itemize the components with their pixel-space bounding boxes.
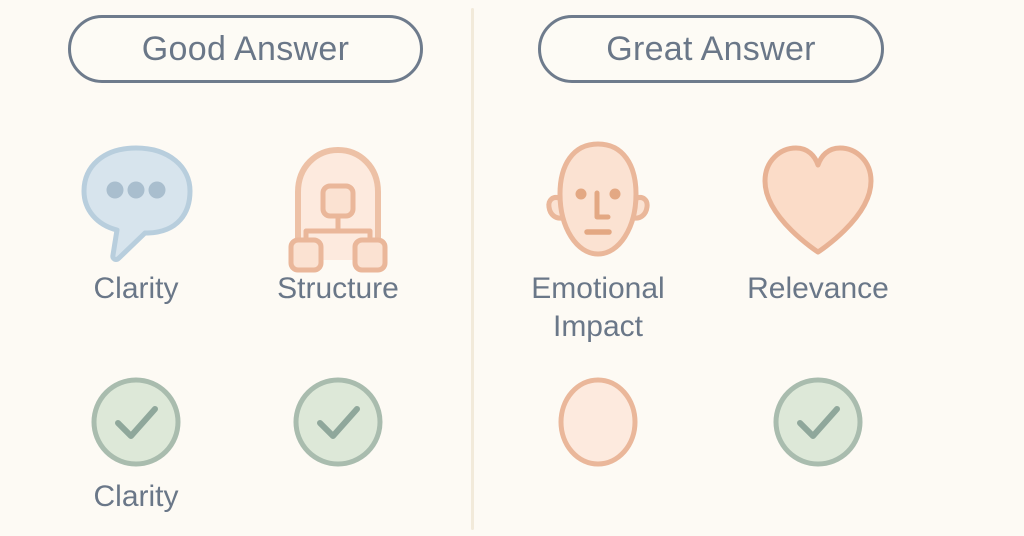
item-label: Clarity	[93, 270, 178, 308]
infographic-board: Good Answer Clarity	[0, 0, 1024, 536]
check-circle-icon	[770, 374, 866, 470]
badge-emotional-impact[interactable]	[498, 374, 698, 478]
check-circle-icon	[290, 374, 386, 470]
item-label: Structure	[277, 270, 399, 308]
item-emotional-impact[interactable]: Emotional Impact	[498, 134, 698, 347]
heart-icon	[753, 134, 883, 264]
header-pill-label: Great Answer	[606, 30, 816, 69]
item-label: Relevance	[747, 270, 889, 308]
face-icon	[533, 134, 663, 264]
item-clarity[interactable]: Clarity	[36, 134, 236, 308]
speech-bubble-icon	[71, 134, 201, 264]
check-circle-icon	[88, 374, 184, 470]
header-pill-good-answer[interactable]: Good Answer	[68, 15, 423, 83]
item-relevance[interactable]: Relevance	[718, 134, 918, 308]
badge-relevance[interactable]	[718, 374, 918, 478]
column-good-answer: Good Answer Clarity	[0, 0, 471, 536]
header-pill-great-answer[interactable]: Great Answer	[538, 15, 884, 83]
item-label: Emotional Impact	[503, 270, 693, 347]
blank-oval-icon	[550, 374, 646, 470]
badge-label: Clarity	[93, 478, 178, 516]
badge-structure[interactable]	[238, 374, 438, 478]
header-pill-label: Good Answer	[142, 30, 349, 69]
item-structure[interactable]: Structure	[238, 134, 438, 308]
org-chart-arch-icon	[273, 134, 403, 264]
badge-clarity[interactable]: Clarity	[36, 374, 236, 516]
column-great-answer: Great Answer Emotional Impact	[474, 0, 1024, 536]
